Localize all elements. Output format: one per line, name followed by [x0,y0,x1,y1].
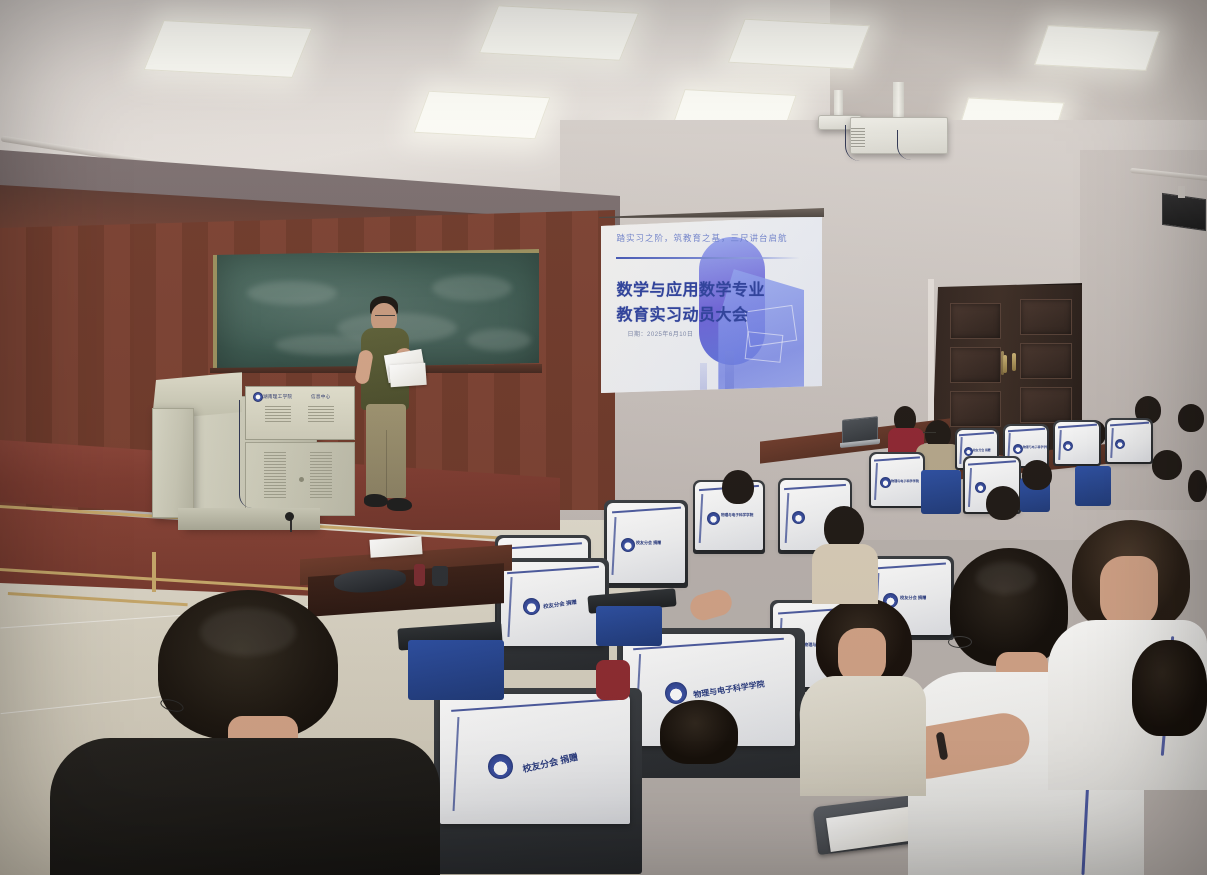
lectern-lock-icon[interactable] [299,477,304,482]
lectern-institution-label: 湖南理工学院 [263,394,292,400]
wall-speaker [1162,193,1206,231]
seat-cover-text: 物理与电子科学学院 [1023,445,1047,449]
audience-head [986,486,1020,520]
presenter-shoe [387,498,412,511]
door-lock-plate [1001,351,1004,375]
seat[interactable]: 校友分会 捐赠 [604,500,688,588]
item-on-shelf [432,566,448,586]
seat-cover-text: 校友分会 捐赠 [636,540,661,546]
ceiling-light-panel [728,19,870,70]
slide-decor-bar [725,351,734,393]
speaker-mount [1178,186,1185,198]
seat-cover-logo-icon [792,511,805,524]
seat-cover-logo-icon [665,682,687,704]
seat-cushion [921,470,961,514]
slide-decor-bar [700,363,707,393]
ceiling-light-panel [479,5,639,61]
presenter-trouser-seam [386,430,387,498]
seat[interactable]: 校友分会 捐赠 [434,688,642,874]
seat[interactable] [1053,420,1101,466]
seat-cover-text: 物理与电子科学学院 [693,678,766,700]
student-face [1100,556,1158,628]
slide-divider-rule [616,257,799,259]
seat-cover-text: 物理与电子科学学院 [721,513,753,518]
lectern-cable [239,400,252,508]
lectern-side-panel [152,408,194,518]
lectern-vent [265,406,291,422]
seat-cover-logo-icon [1013,444,1023,454]
lectern-vent [264,452,286,500]
lectern-vent [310,452,332,500]
student-glasses-icon [948,636,972,648]
seat-cover-text: 校友分会 捐赠 [973,448,991,452]
ceiling-light-panel [144,20,313,78]
foreground-student-shirt [50,738,440,875]
seat-cover-logo-icon [964,447,973,456]
seat-cover-logo-icon [707,512,720,525]
audience-head [1178,404,1204,432]
audience-glasses-icon [923,432,936,436]
door-panel [950,391,1001,427]
seat-cover-logo-icon [1115,439,1125,449]
seat-cushion [1075,466,1111,506]
slide-title-line2: 教育实习动员大会 [616,301,748,325]
seat-cover [1107,420,1151,462]
door-panel [1020,343,1072,379]
projection-screen: 踏实习之阶，筑教育之基，三尺讲台启航 数学与应用数学专业 教育实习动员大会 日期… [601,216,822,393]
door-panel [1020,387,1072,423]
papers-on-desk [369,536,422,558]
seat-cushion [596,606,662,646]
bottle-on-shelf [414,564,425,586]
red-bag [596,660,630,700]
seat-cover: 物理与电子科学学院 [871,454,923,506]
seat-cover [1055,422,1099,464]
audience-head [1188,470,1207,502]
microphone-head-icon [285,512,294,521]
seat[interactable] [1105,418,1153,464]
seat-cover-text: 校友分会 捐赠 [543,598,578,611]
lecture-hall-photo: 踏实习之阶，筑教育之基，三尺讲台启航 数学与应用数学专业 教育实习动员大会 日期… [0,0,1207,875]
presenter-papers [389,363,426,387]
seat-cover-text: 校友分会 捐赠 [521,750,579,775]
door-handle[interactable] [1012,353,1016,371]
seat-cover-text: 校友分会 捐赠 [900,595,926,601]
seat-cover-logo-icon [880,477,891,488]
door-panel [950,303,1001,339]
student-hair [1132,640,1207,736]
lectern-logo-icon [253,392,263,402]
audience-hand [687,587,735,624]
seat-cover-logo-icon [975,482,986,493]
door-panel [950,347,1001,383]
stage-step-trim [152,552,156,592]
audience-head [1022,460,1052,490]
student-shirt [800,676,926,796]
presenter-shoe [364,494,388,507]
projector-mount-pole [834,90,843,118]
seat-cover-logo-icon [1063,441,1073,451]
slide-title-line1: 数学与应用数学专业 [616,276,765,300]
ceiling-light-panel [414,91,551,139]
seat[interactable]: 校友分会 捐赠 [497,558,609,670]
audience-head [1152,450,1182,480]
slide-date: 日期：2025年6月10日 [628,329,694,338]
seat-cover: 校友分会 捐赠 [440,694,630,824]
seat-cover-logo-icon [488,754,513,779]
seat-cover-logo-icon [621,538,635,552]
door-panel [1020,299,1072,335]
lectern-department-label: 信息中心 [311,394,331,400]
seat-cushion [408,640,504,700]
seat-cover-logo-icon [523,598,540,615]
presenter-glasses-icon [375,315,395,320]
slide-decor-line [745,331,784,363]
student-hair [660,700,738,764]
presentation-slide: 踏实习之阶，筑教育之基，三尺讲台启航 数学与应用数学专业 教育实习动员大会 日期… [601,216,822,393]
lectern-base [178,508,320,530]
audience-torso [812,544,878,604]
seat-cover-text: 物理与电子科学学院 [891,478,919,483]
seat-cover: 校友分会 捐赠 [607,503,685,583]
projector-mount-pole [893,82,904,118]
slide-subtitle: 踏实习之阶，筑教育之基，三尺讲台启航 [616,232,806,244]
seat[interactable]: 物理与电子科学学院 [869,452,925,508]
lectern-vent [308,406,334,422]
ceiling-light-panel [1034,25,1160,71]
audience-head [722,470,754,504]
